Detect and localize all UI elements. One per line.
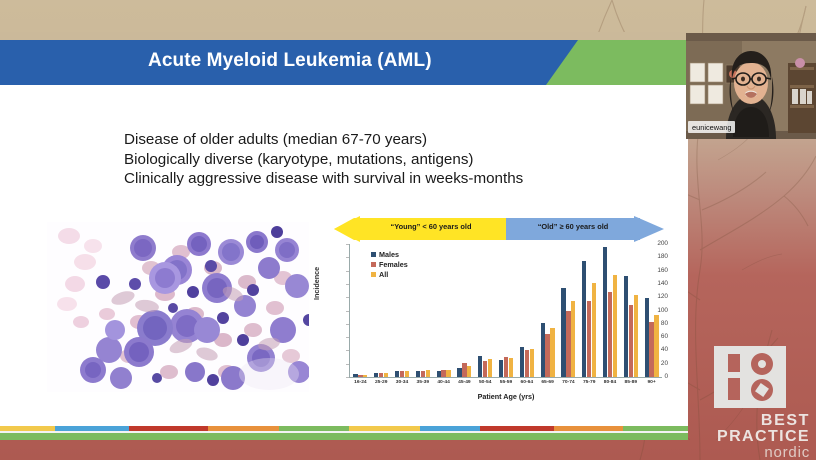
incidence-bar-chart: “Young” < 60 years old “Old” ≥ 60 years …: [316, 216, 668, 401]
bar-females: [400, 371, 404, 377]
brand-block: BEST PRACTICE nordic: [686, 340, 816, 460]
bar-males: [624, 276, 628, 377]
bar-all: [363, 375, 367, 377]
bar-all: [426, 370, 430, 377]
legend-swatch: [371, 272, 376, 277]
x-axis-line: [349, 377, 662, 378]
best-practice-logo-icon: [714, 346, 786, 408]
bar-group: [516, 244, 537, 377]
bar-males: [520, 347, 524, 377]
bar-males: [457, 368, 461, 377]
bullet-item: Biologically diverse (karyotype, mutatio…: [124, 150, 644, 170]
bar-females: [608, 292, 612, 377]
chart-legend: MalesFemalesAll: [371, 249, 408, 279]
bar-males: [499, 360, 503, 377]
bar-group: [454, 244, 475, 377]
bar-group: [537, 244, 558, 377]
legend-item: All: [371, 269, 408, 279]
webcam-video-tile[interactable]: eunicewang: [686, 33, 816, 139]
age-group-arrow-band: “Young” < 60 years old “Old” ≥ 60 years …: [334, 216, 664, 242]
blood-smear-illustration: [47, 222, 309, 392]
bar-group: [350, 244, 371, 377]
bar-all: [571, 301, 575, 377]
legend-label: Males: [379, 250, 399, 259]
screen-root: Acute Myeloid Leukemia (AML) Disease of …: [0, 0, 816, 460]
bar-females: [379, 373, 383, 377]
bar-females: [566, 311, 570, 377]
bar-all: [405, 371, 409, 377]
legend-swatch: [371, 252, 376, 257]
x-axis-tick-label: 90+: [637, 380, 666, 385]
bar-males: [478, 356, 482, 377]
bar-females: [462, 363, 466, 377]
bar-males: [437, 371, 441, 377]
presentation-slide: Acute Myeloid Leukemia (AML) Disease of …: [0, 32, 688, 440]
bar-all: [467, 366, 471, 377]
legend-item: Females: [371, 259, 408, 269]
bullet-list: Disease of older adults (median 67-70 ye…: [124, 130, 644, 189]
bar-females: [649, 322, 653, 377]
x-axis-label: Patient Age (yrs): [350, 392, 662, 401]
bullet-item: Disease of older adults (median 67-70 ye…: [124, 130, 644, 150]
bar-group: [600, 244, 621, 377]
bar-group: [620, 244, 641, 377]
bar-all: [509, 358, 513, 377]
bar-males: [645, 298, 649, 377]
logo-mark: [714, 346, 786, 408]
bar-all: [530, 349, 534, 377]
chart-plot-box: Incidence 020406080100120140160180200 16…: [316, 244, 668, 401]
y-axis-label: Incidence: [312, 267, 321, 300]
bullet-item: Clinically aggressive disease with survi…: [124, 169, 644, 189]
x-axis-ticks: 16-2425-2930-3435-3940-4445-4950-5455-59…: [350, 380, 662, 392]
slide-title-band: Acute Myeloid Leukemia (AML): [0, 40, 688, 85]
bar-group: [412, 244, 433, 377]
bar-females: [483, 361, 487, 377]
bar-females: [545, 334, 549, 377]
aml-micrograph-image: [47, 222, 309, 392]
young-arrow-label: “Young” < 60 years old: [356, 222, 506, 231]
bar-females: [525, 350, 529, 377]
bar-group: [496, 244, 517, 377]
bar-group: [475, 244, 496, 377]
bar-all: [550, 328, 554, 377]
bar-females: [421, 371, 425, 377]
bar-females: [629, 305, 633, 377]
legend-item: Males: [371, 249, 408, 259]
bar-group: [641, 244, 662, 377]
bar-all: [488, 359, 492, 377]
bar-all: [613, 275, 617, 377]
legend-label: Females: [379, 260, 408, 269]
bar-females: [441, 370, 445, 377]
legend-label: All: [379, 270, 388, 279]
bar-group: [433, 244, 454, 377]
page-title: Acute Myeloid Leukemia (AML): [148, 50, 432, 72]
bar-males: [374, 373, 378, 377]
bar-males: [582, 261, 586, 377]
bar-group: [579, 244, 600, 377]
old-arrow-label: “Old” ≥ 60 years old: [506, 222, 640, 231]
bar-males: [395, 371, 399, 377]
bar-females: [358, 375, 362, 377]
bar-males: [603, 247, 607, 377]
bar-females: [504, 357, 508, 377]
bar-males: [416, 371, 420, 377]
bar-all: [384, 373, 388, 377]
bar-group: [558, 244, 579, 377]
bar-all: [634, 295, 638, 377]
slide-top-strip: [0, 32, 688, 40]
bar-males: [353, 374, 357, 377]
bar-all: [654, 315, 658, 378]
bar-all: [446, 370, 450, 377]
slide-footer: ROSWELL PARK COMPREHENSIVE CANCER CENTER…: [0, 433, 688, 440]
bar-all: [592, 283, 596, 377]
bar-males: [561, 288, 565, 377]
bar-males: [541, 323, 545, 377]
participant-name-label: eunicewang: [688, 121, 735, 133]
bar-females: [587, 301, 591, 377]
brand-line-3: nordic: [686, 444, 810, 460]
legend-swatch: [371, 262, 376, 267]
